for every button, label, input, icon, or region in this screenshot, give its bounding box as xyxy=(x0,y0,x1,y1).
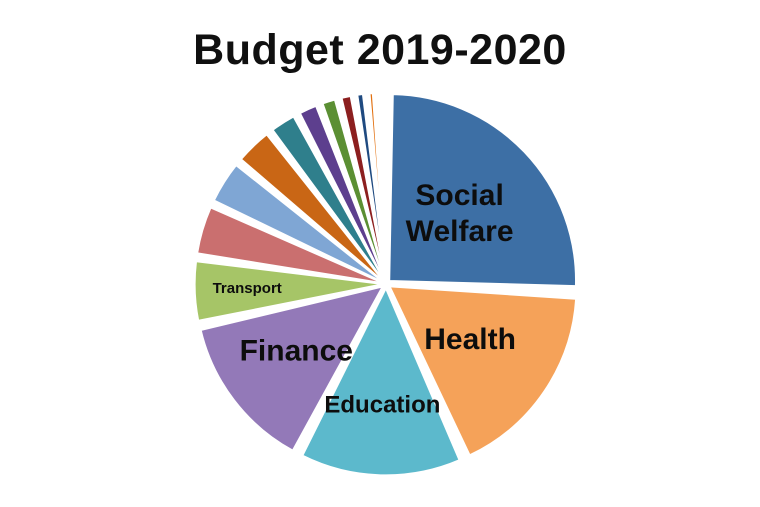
pie-label-transport: Transport xyxy=(213,280,282,297)
chart-title: Budget 2019-2020 xyxy=(0,26,760,75)
pie-chart-svg: SocialWelfareHealthEducationFinanceTrans… xyxy=(186,84,586,484)
pie-label-finance: Finance xyxy=(240,334,353,367)
pie-label-health: Health xyxy=(424,323,516,356)
pie-chart: SocialWelfareHealthEducationFinanceTrans… xyxy=(186,84,586,484)
chart-canvas: Budget 2019-2020 SocialWelfareHealthEduc… xyxy=(0,0,760,507)
pie-label-education: Education xyxy=(324,391,440,418)
